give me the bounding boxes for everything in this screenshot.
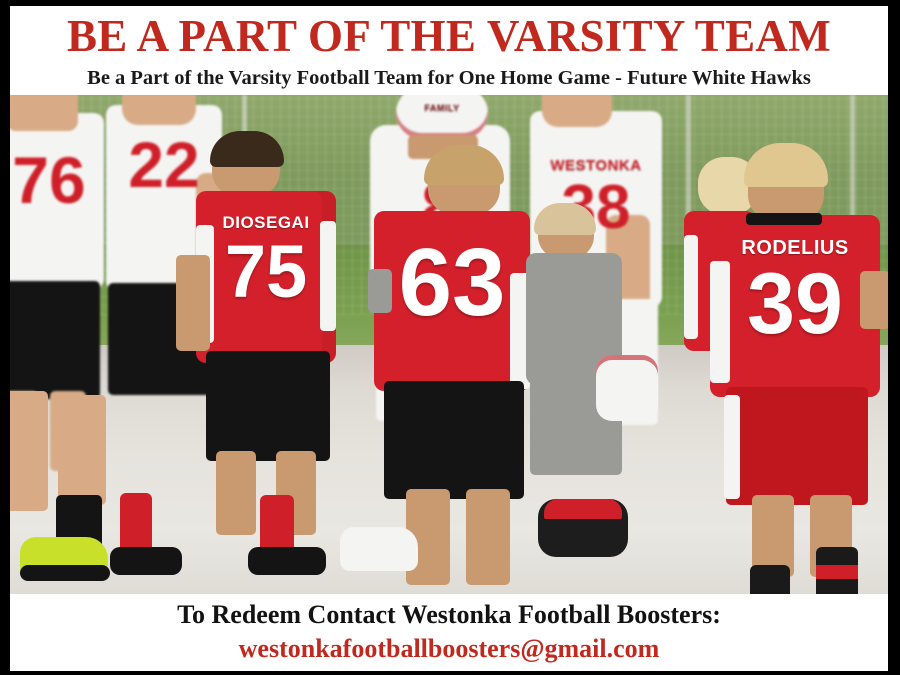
poster-content: BE A PART OF THE VARSITY TEAM Be a Part … <box>10 6 888 671</box>
held-helmet <box>596 355 658 421</box>
white-shoe <box>340 527 418 571</box>
redeem-instruction: To Redeem Contact Westonka Football Boos… <box>14 601 884 630</box>
photo-scene: 76 22 FAMILY 8 <box>10 95 888 594</box>
poster-headline: BE A PART OF THE VARSITY TEAM <box>14 14 884 60</box>
poster-header: BE A PART OF THE VARSITY TEAM Be a Part … <box>10 6 888 95</box>
poster-photo: 76 22 FAMILY 8 <box>10 95 888 594</box>
poster-root: BE A PART OF THE VARSITY TEAM Be a Part … <box>0 0 900 675</box>
poster-footer: To Redeem Contact Westonka Football Boos… <box>10 594 888 671</box>
poster-subheadline: Be a Part of the Varsity Football Team f… <box>14 67 884 91</box>
ground-helmet-stripe <box>544 499 622 519</box>
contact-email[interactable]: westonkafootballboosters@gmail.com <box>14 634 884 663</box>
